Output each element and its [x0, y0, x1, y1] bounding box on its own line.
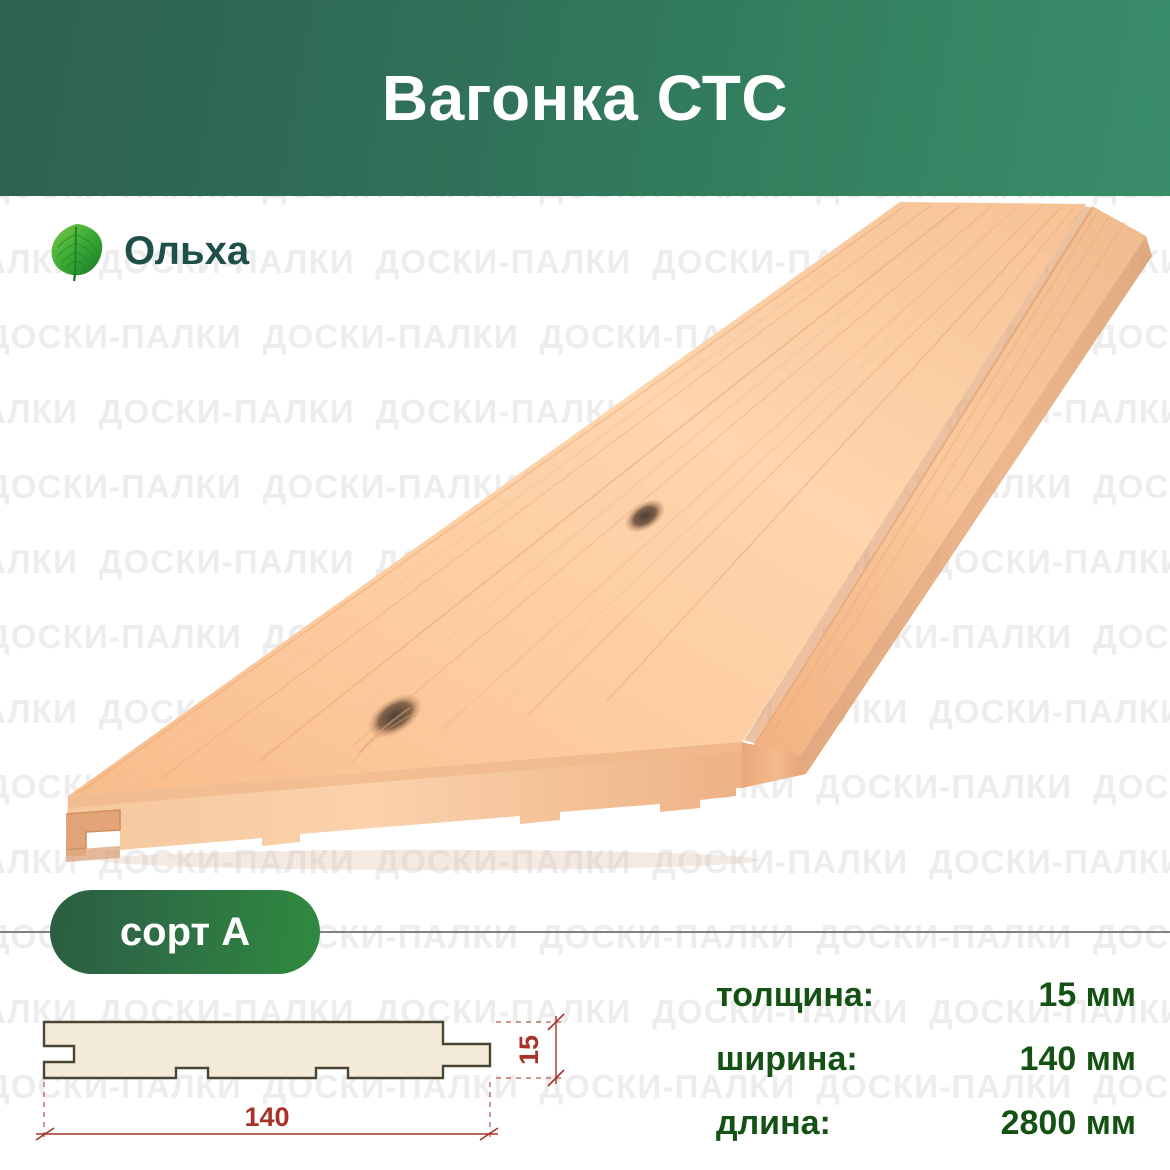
spec-row-width: ширина: 140 мм — [716, 1042, 1136, 1106]
species-name: Ольха — [124, 231, 249, 271]
spec-label-length: длина: — [716, 1106, 831, 1140]
spec-label-thickness: толщина: — [716, 978, 874, 1012]
product-card: ДОСКИ-ПАЛКИ ДОСКИ-ПАЛКИ ДОСКИ-ПАЛКИ ДОСК… — [0, 0, 1170, 1170]
profile-outline — [44, 1022, 490, 1078]
profile-drawing: 140 15 — [18, 988, 598, 1160]
spec-label-width: ширина: — [716, 1042, 858, 1076]
thickness-dimension-label: 15 — [514, 1035, 544, 1065]
leaf-icon — [46, 220, 108, 282]
header-bar: Вагонка СТС — [0, 0, 1170, 196]
spec-row-thickness: толщина: 15 мм — [716, 978, 1136, 1042]
page-title: Вагонка СТС — [382, 66, 788, 130]
species-badge: Ольха — [46, 220, 249, 282]
spec-value-length: 2800 мм — [1001, 1106, 1136, 1140]
specs-list: толщина: 15 мм ширина: 140 мм длина: 280… — [716, 978, 1136, 1170]
grade-badge: сорт А — [50, 890, 320, 974]
grade-badge-label: сорт А — [120, 912, 250, 952]
spec-value-thickness: 15 мм — [1038, 978, 1136, 1012]
spec-value-width: 140 мм — [1020, 1042, 1136, 1076]
spec-row-length: длина: 2800 мм — [716, 1106, 1136, 1170]
width-dimension-label: 140 — [244, 1102, 289, 1132]
product-photo — [0, 196, 1170, 876]
